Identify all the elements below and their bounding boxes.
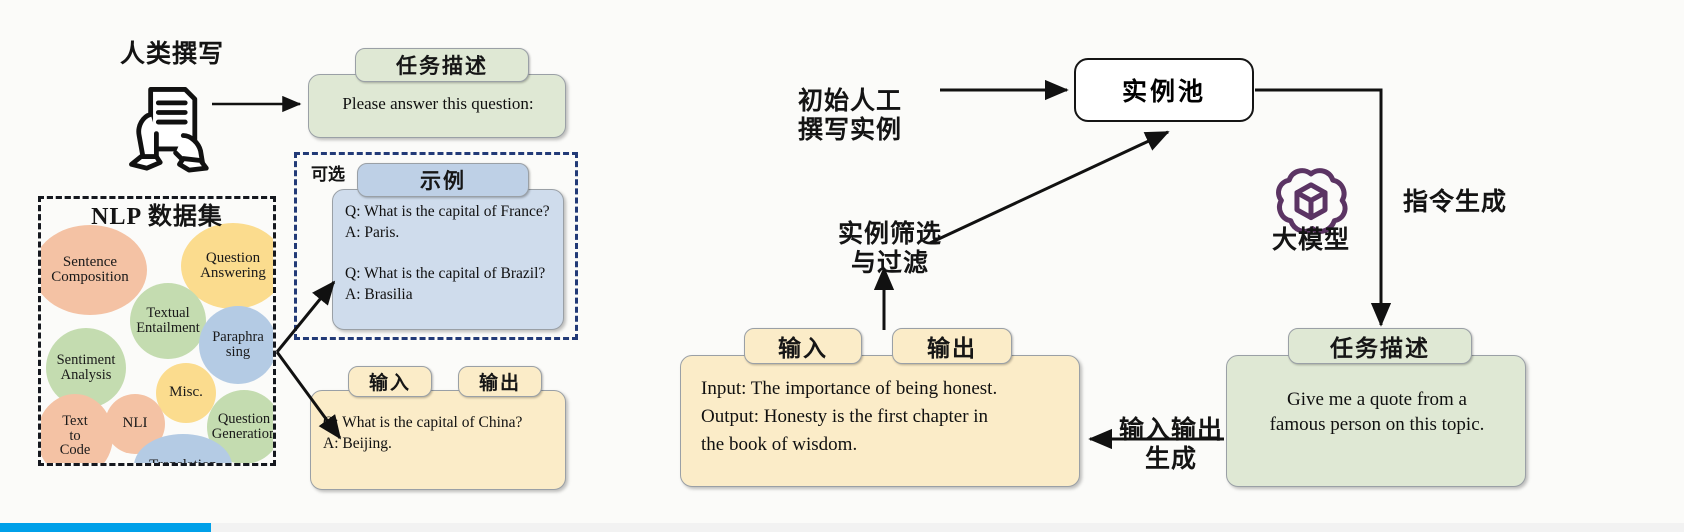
hand-writing-document-icon [118, 76, 214, 172]
bubble-label: Sentence Composition [51, 255, 129, 286]
bubble-label: Sentiment Analysis [57, 353, 116, 383]
left-io-line-1: Q: What is the capital of China? [323, 413, 522, 433]
nlp-dataset-title: NLP 数据集 [38, 203, 276, 231]
filter-label: 实例筛选 与过滤 [810, 190, 970, 279]
seed-instances-label: 初始人工 撰写实例 [760, 57, 940, 146]
right-task-description-card: Give me a quote from a famous person on … [1226, 355, 1526, 487]
instruction-generation-label: 指令生成 [1393, 188, 1517, 218]
right-io-card: Input: The importance of being honest. O… [680, 355, 1080, 487]
bubble-label: Paraphra sing [212, 330, 264, 360]
instance-pool-label: 实例池 [1122, 72, 1206, 108]
left-task-description-text: Please answer this question: [309, 93, 567, 115]
bubble-textual-entailment: Textual Entailment [130, 283, 206, 359]
left-demo-line-1: Q: What is the capital of France? [345, 202, 550, 222]
left-output-tab: 输出 [458, 366, 542, 397]
bottom-scroll-thumb[interactable] [0, 523, 211, 532]
bubble-label: Question Answering [200, 251, 266, 282]
left-demo-tab: 示例 [357, 163, 529, 197]
diagram-canvas: 人类撰写 任务描述 Please answer this question: 可… [0, 0, 1684, 532]
optional-label: 可选 [306, 165, 350, 185]
left-demo-card: Q: What is the capital of France? A: Par… [332, 189, 564, 330]
bubble-label: Question Generation [212, 412, 273, 442]
bubble-paraphrasing: Paraphra sing [199, 306, 273, 384]
bubble-label: Translation [149, 458, 217, 463]
left-io-card: Q: What is the capital of China? A: Beij… [310, 390, 566, 490]
bubble-label: Textual Entailment [136, 306, 200, 336]
right-task-description-tab: 任务描述 [1288, 328, 1472, 364]
right-output-tab: 输出 [892, 328, 1012, 364]
bubble-label: Misc. [169, 385, 203, 400]
bottom-scroll-track[interactable] [0, 523, 1684, 532]
bubble-label: Text to Code [60, 414, 91, 458]
llm-label: 大模型 [1258, 226, 1364, 256]
bubble-label: NLI [123, 416, 148, 431]
right-io-text: Input: The importance of being honest. O… [701, 375, 1069, 459]
io-generation-label: 输入输出 生成 [1110, 386, 1232, 475]
instance-pool-box: 实例池 [1074, 58, 1254, 122]
left-io-line-2: A: Beijing. [323, 434, 392, 454]
left-demo-line-4: A: Brasilia [345, 285, 413, 305]
bubble-misc: Misc. [156, 363, 216, 423]
left-task-description-tab: 任务描述 [355, 48, 529, 82]
left-input-tab: 输入 [348, 366, 432, 397]
left-demo-line-3: Q: What is the capital of Brazil? [345, 264, 545, 284]
left-demo-line-2: A: Paris. [345, 223, 399, 243]
right-input-tab: 输入 [744, 328, 862, 364]
left-task-description-card: Please answer this question: [308, 74, 566, 138]
right-task-description-text: Give me a quote from a famous person on … [1227, 388, 1527, 437]
human-written-label: 人类撰写 [104, 40, 240, 70]
